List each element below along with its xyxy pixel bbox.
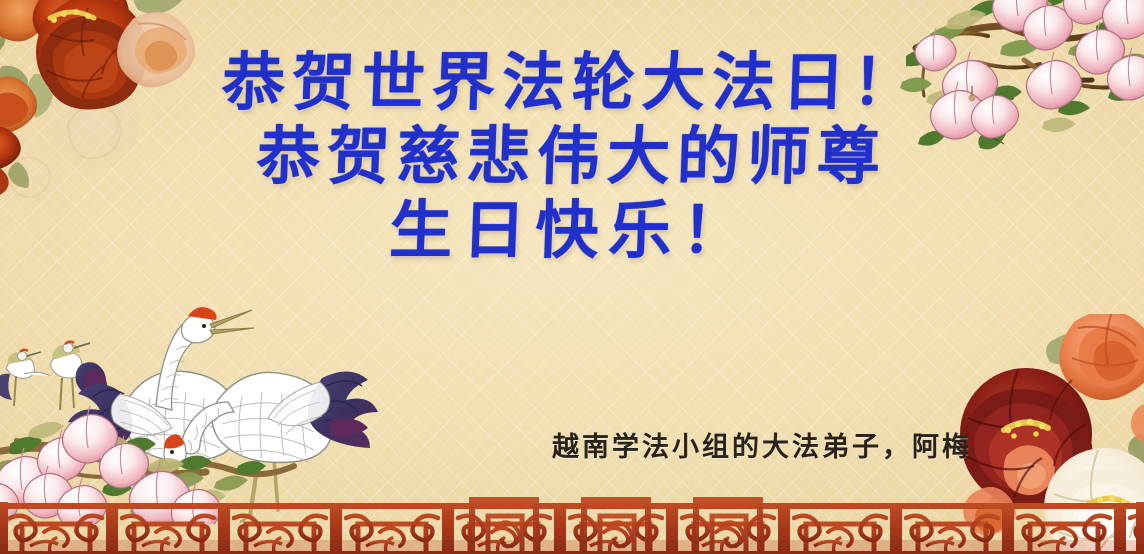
title-line-3: 生日快乐！ — [0, 194, 1144, 268]
red-crowned-cranes-icon — [0, 294, 386, 524]
title-line-2: 恭贺慈悲伟大的师尊 — [0, 120, 1144, 194]
greeting-title: 恭贺世界法轮大法日！ 恭贺慈悲伟大的师尊 生日快乐！ — [0, 46, 1144, 268]
carved-lattice-railing-icon — [0, 492, 1144, 554]
orange-peony-cluster-icon — [0, 0, 248, 204]
title-line-1: 恭贺世界法轮大法日！ — [0, 46, 1144, 120]
peach-branch-icon — [874, 0, 1144, 176]
signature-text: 越南学法小组的大法弟子，阿梅 — [552, 425, 972, 464]
greeting-card: 恭贺世界法轮大法日！ 恭贺慈悲伟大的师尊 生日快乐！ 越南学法小组的大法弟子，阿… — [0, 0, 1144, 554]
